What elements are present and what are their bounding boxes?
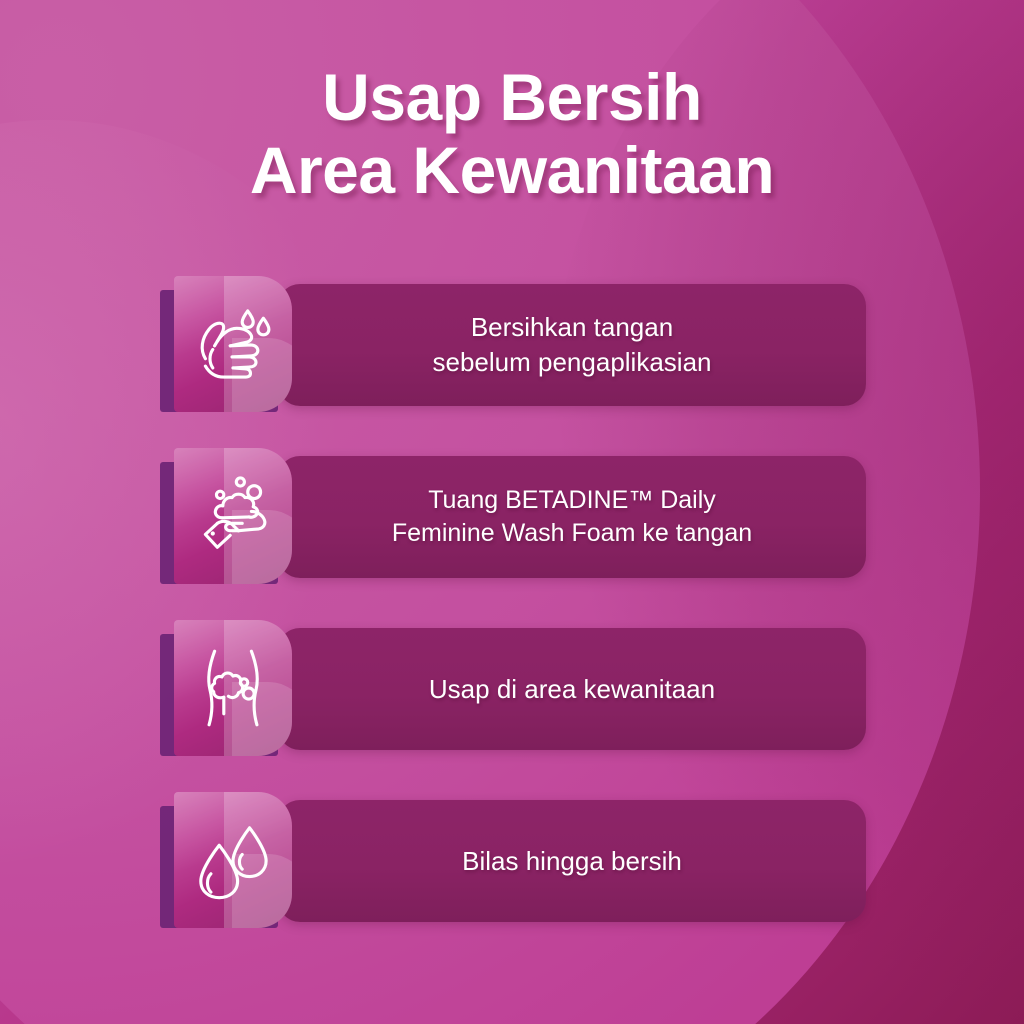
tile-surface [174,620,292,756]
hand-with-foam-icon [174,448,292,584]
intimate-area-icon [174,620,292,756]
step-text: Bersihkan tangan sebelum pengaplikasian [433,310,712,380]
step-card: Bilas hingga bersih [278,800,866,922]
step-card: Usap di area kewanitaan [278,628,866,750]
step-text: Tuang BETADINE™ Daily Feminine Wash Foam… [392,484,752,551]
step-text-line-1: Tuang BETADINE™ Daily [428,486,716,514]
step-item: Bilas hingga bersih [0,792,1024,930]
step-icon-tile [160,276,310,426]
water-droplets-icon [174,792,292,928]
step-item: Usap di area kewanitaan [0,620,1024,758]
tile-surface [174,276,292,412]
tile-surface [174,448,292,584]
title-line-1: Usap Bersih [0,64,1024,131]
step-text: Bilas hingga bersih [462,844,682,879]
step-icon-tile [160,792,310,942]
poster-canvas: Usap Bersih Area Kewanitaan Bersihkan ta… [0,0,1024,1024]
page-title: Usap Bersih Area Kewanitaan [0,64,1024,205]
step-card: Bersihkan tangan sebelum pengaplikasian [278,284,866,406]
step-text-line-1: Bersihkan tangan [471,312,673,342]
tile-surface [174,792,292,928]
washing-hands-icon [174,276,292,412]
step-icon-tile [160,620,310,770]
step-text-line-2: sebelum pengaplikasian [433,347,712,377]
step-item: Bersihkan tangan sebelum pengaplikasian [0,276,1024,414]
step-icon-tile [160,448,310,598]
step-card: Tuang BETADINE™ Daily Feminine Wash Foam… [278,456,866,578]
step-text-line-2: Feminine Wash Foam ke tangan [392,519,752,547]
step-text: Usap di area kewanitaan [429,672,715,707]
steps-list: Bersihkan tangan sebelum pengaplikasian [0,276,1024,964]
step-text-line-1: Usap di area kewanitaan [429,674,715,704]
title-line-2: Area Kewanitaan [0,137,1024,204]
step-text-line-1: Bilas hingga bersih [462,846,682,876]
step-item: Tuang BETADINE™ Daily Feminine Wash Foam… [0,448,1024,586]
